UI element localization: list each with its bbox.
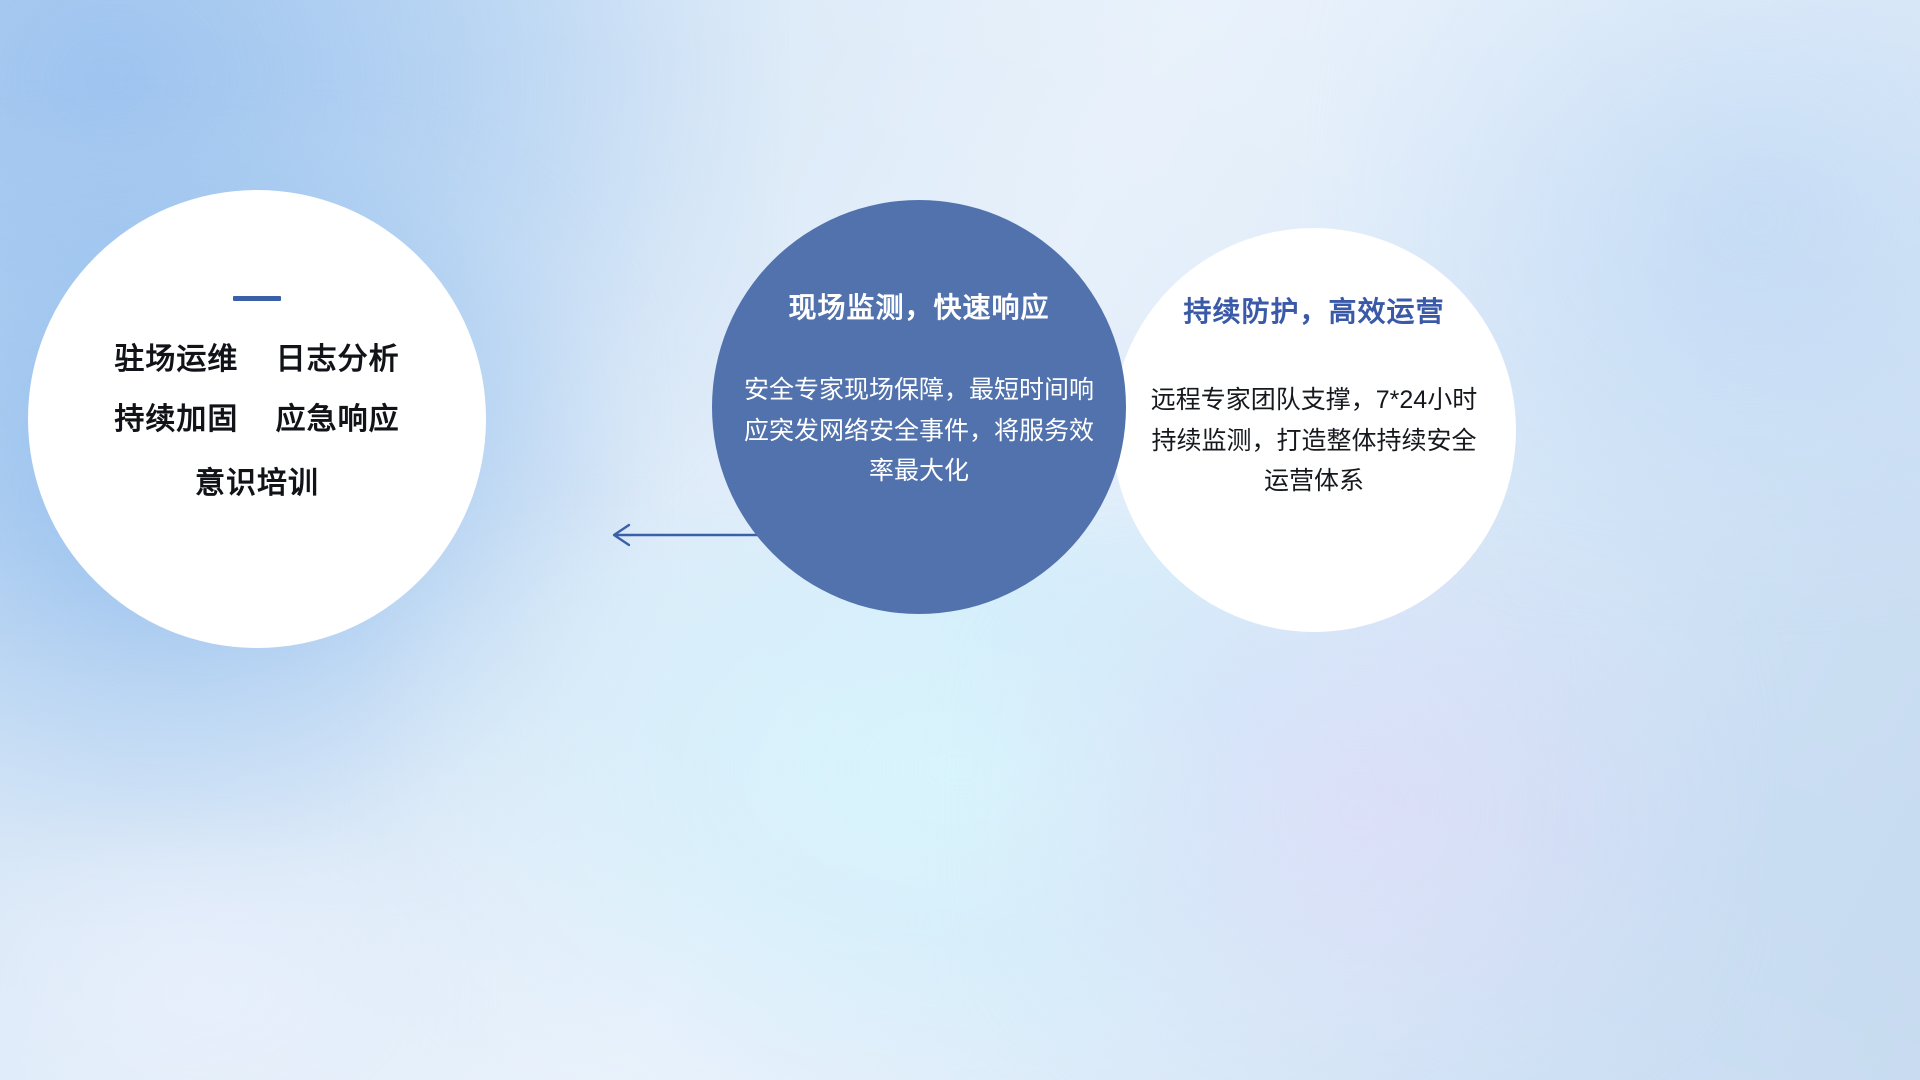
divider-dash xyxy=(233,296,281,301)
capability-line-1: 驻场运维 日志分析 xyxy=(28,345,486,375)
continuous-protection-content: 持续防护，高效运营 远程专家团队支撑，7*24小时持续监测，打造整体持续安全运营… xyxy=(1112,290,1516,502)
capability-line-3: 意识培训 xyxy=(28,469,486,499)
onsite-monitoring-title: 现场监测，快速响应 xyxy=(726,286,1112,326)
slide-canvas: 驻场运维 日志分析 持续加固 应急响应 意识培训 持续防护，高效运营 远程专家团… xyxy=(0,0,1920,1080)
capability-line-2: 持续加固 应急响应 xyxy=(28,405,486,435)
circle-capabilities: 驻场运维 日志分析 持续加固 应急响应 意识培训 xyxy=(28,190,486,648)
continuous-protection-body: 远程专家团队支撑，7*24小时持续监测，打造整体持续安全运营体系 xyxy=(1130,380,1498,502)
capabilities-content: 驻场运维 日志分析 持续加固 应急响应 意识培训 xyxy=(28,296,486,499)
circle-continuous-protection: 持续防护，高效运营 远程专家团队支撑，7*24小时持续监测，打造整体持续安全运营… xyxy=(1112,228,1516,632)
circle-onsite-monitoring: 现场监测，快速响应 安全专家现场保障，最短时间响应突发网络安全事件，将服务效率最… xyxy=(712,200,1126,614)
continuous-protection-title: 持续防护，高效运营 xyxy=(1130,290,1498,330)
onsite-monitoring-body: 安全专家现场保障，最短时间响应突发网络安全事件，将服务效率最大化 xyxy=(726,370,1112,492)
onsite-monitoring-content: 现场监测，快速响应 安全专家现场保障，最短时间响应突发网络安全事件，将服务效率最… xyxy=(712,286,1126,492)
